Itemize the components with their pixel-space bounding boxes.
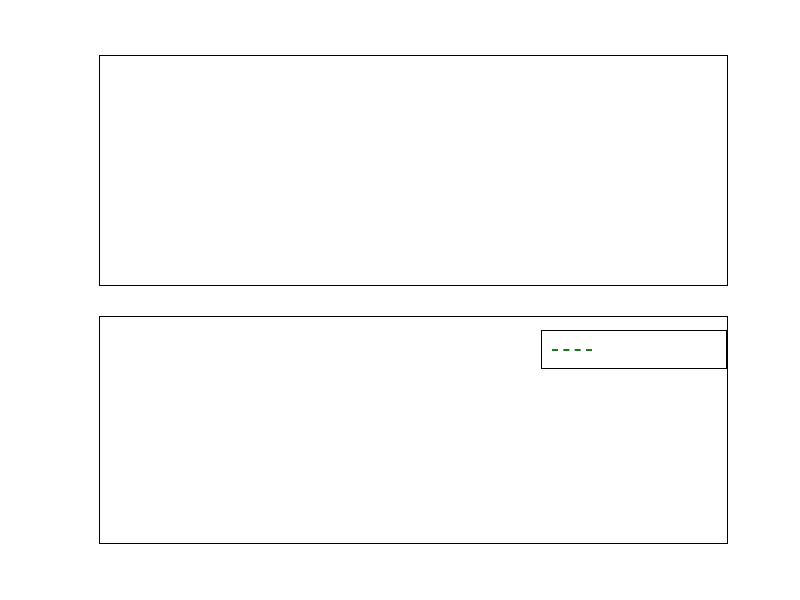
- mag-limit-line-icon: [552, 349, 592, 351]
- differential-histogram-axes: [99, 55, 728, 286]
- figure-canvas: [0, 0, 800, 600]
- legend[interactable]: [541, 330, 727, 369]
